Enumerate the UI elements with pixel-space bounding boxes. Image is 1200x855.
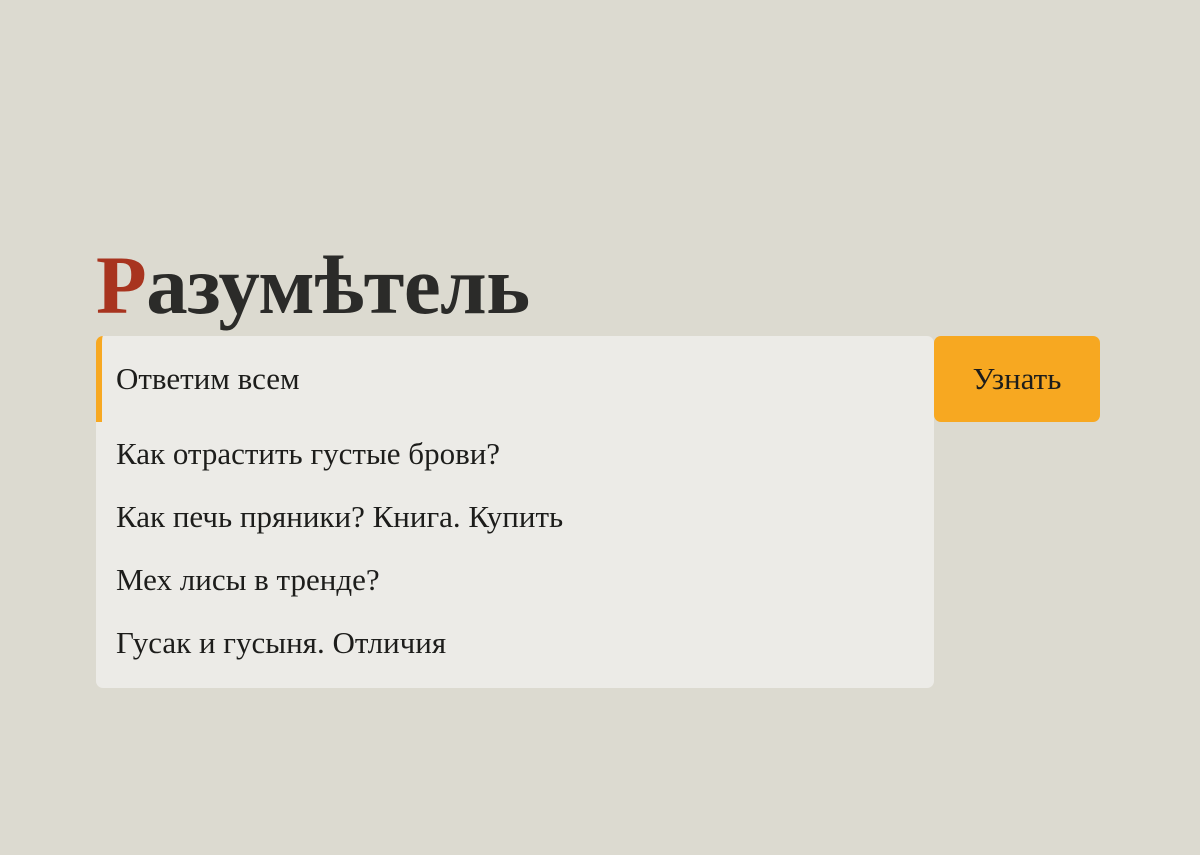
search-submit-button[interactable]: Узнать — [934, 336, 1100, 422]
list-item[interactable]: Мех лисы в тренде? — [96, 548, 934, 611]
page-title-initial: Р — [96, 239, 146, 331]
list-item[interactable]: Как отрастить густые брови? — [96, 422, 934, 485]
search-panel: Как отрастить густые брови? Как печь пря… — [96, 336, 934, 688]
page-root: Разумѣтель Как отрастить густые брови? К… — [0, 0, 1200, 855]
page-title-rest: азумѣтель — [146, 239, 529, 331]
page-title: Разумѣтель — [96, 242, 530, 329]
list-item[interactable]: Гусак и гусыня. Отличия — [96, 611, 934, 674]
list-item[interactable]: Как печь пряники? Книга. Купить — [96, 485, 934, 548]
search-field-row[interactable] — [96, 336, 934, 422]
search-input[interactable] — [116, 336, 922, 422]
search-widget: Как отрастить густые брови? Как печь пря… — [96, 336, 1100, 676]
suggestion-list: Как отрастить густые брови? Как печь пря… — [96, 422, 934, 678]
search-combobox: Как отрастить густые брови? Как печь пря… — [96, 336, 934, 688]
